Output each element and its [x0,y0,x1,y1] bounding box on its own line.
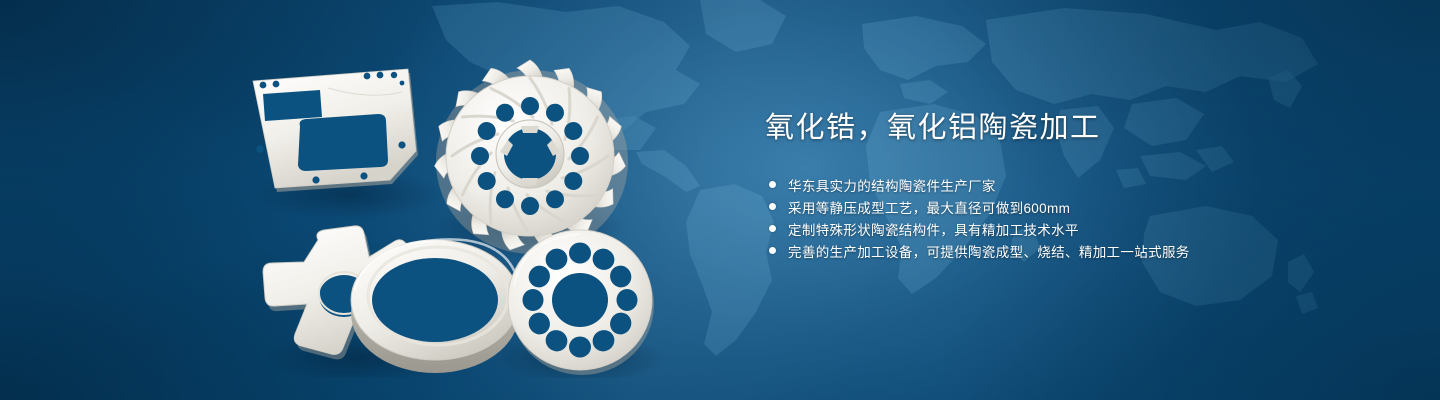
list-item: 采用等静压成型工艺，最大直径可做到600mm [769,196,1385,218]
banner-copy: 氧化锆，氧化铝陶瓷加工 华东具实力的结构陶瓷件生产厂家 采用等静压成型工艺，最大… [765,110,1385,262]
feature-list: 华东具实力的结构陶瓷件生产厂家 采用等静压成型工艺，最大直径可做到600mm 定… [769,174,1385,262]
page-title: 氧化锆，氧化铝陶瓷加工 [765,110,1385,148]
ceramic-perforated-disc-part [508,230,654,375]
bullet-dot-icon [769,203,776,210]
list-item-label: 完善的生产加工设备，可提供陶瓷成型、烧结、精加工一站式服务 [788,241,1190,261]
list-item: 定制特殊形状陶瓷结构件，具有精加工技术水平 [769,218,1385,240]
list-item-label: 华东具实力的结构陶瓷件生产厂家 [788,175,996,195]
bullet-dot-icon [769,181,776,188]
bullet-dot-icon [769,225,776,232]
list-item: 完善的生产加工设备，可提供陶瓷成型、烧结、精加工一站式服务 [769,240,1385,262]
ceramic-plate-part [253,69,418,192]
ceramic-ring-part [351,239,519,373]
bullet-dot-icon [769,247,776,254]
promo-banner: 氧化锆，氧化铝陶瓷加工 华东具实力的结构陶瓷件生产厂家 采用等静压成型工艺，最大… [0,0,1440,400]
list-item-label: 采用等静压成型工艺，最大直径可做到600mm [788,197,1070,217]
ceramic-products-image [230,28,680,378]
list-item: 华东具实力的结构陶瓷件生产厂家 [769,174,1385,196]
list-item-label: 定制特殊形状陶瓷结构件，具有精加工技术水平 [788,219,1079,239]
ceramic-impeller-part [433,60,628,254]
